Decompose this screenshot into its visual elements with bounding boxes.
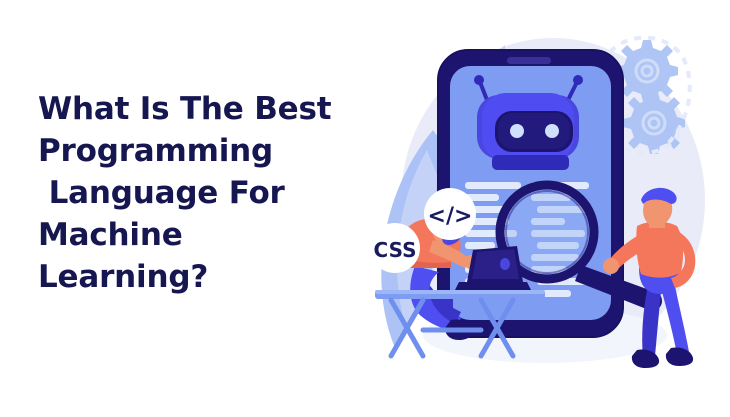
- code-badge: </>: [424, 188, 476, 240]
- css-badge: CSS: [370, 223, 420, 273]
- laptop-base: [455, 282, 531, 290]
- headline-line-5: Learning?: [38, 256, 358, 298]
- headline-line-1: What Is The Best: [38, 88, 358, 130]
- robot-chin: [492, 155, 569, 170]
- headline-line-4: Machine: [38, 214, 358, 256]
- robot-eye-right: [545, 124, 559, 138]
- gear-lower: [623, 92, 685, 154]
- laptop-logo: [500, 258, 510, 270]
- phone-speaker: [507, 57, 551, 64]
- headline-line-3: Language For: [38, 172, 358, 214]
- robot-eye-left: [510, 124, 524, 138]
- robot-antenna-right: [573, 75, 583, 85]
- headline-line-2: Programming: [38, 130, 358, 172]
- robot-antenna-left: [474, 75, 484, 85]
- analyst-hand: [603, 258, 619, 274]
- css-badge-label: CSS: [374, 238, 417, 262]
- page-title: What Is The Best Programming Language Fo…: [38, 88, 358, 298]
- hero-illustration: </> CSS: [355, 0, 730, 417]
- poster-canvas: What Is The Best Programming Language Fo…: [0, 0, 730, 417]
- gear-upper: [616, 40, 678, 102]
- analyst-shoe-right: [666, 347, 693, 366]
- analyst-leg-front: [661, 286, 689, 354]
- code-badge-label: </>: [428, 204, 473, 229]
